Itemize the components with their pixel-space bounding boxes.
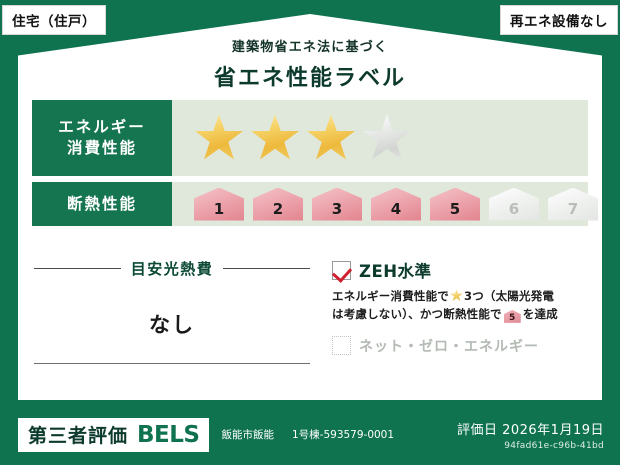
- insulation-grade-badge-1: 1: [194, 188, 244, 221]
- star-filled-icon: [306, 113, 356, 163]
- title-subtitle: 建築物省エネ法に基づく: [0, 36, 620, 55]
- energy-label-root: 住宅（住戸） 再エネ設備なし 建築物省エネ法に基づく 省エネ性能ラベル エネルギ…: [0, 0, 620, 465]
- evaluation-date: 評価日 2026年1月19日: [457, 419, 604, 438]
- zeh-desc-star-count: 3つ（太陽光発電: [464, 289, 554, 303]
- zeh-description: エネルギー消費性能で3つ（太陽光発電は考慮しない）、かつ断熱性能で5を達成: [332, 288, 588, 324]
- building-type-tag: 住宅（住戸）: [2, 5, 106, 35]
- utility-cost-heading: 目安光熱費: [34, 258, 310, 279]
- label-title-block: 建築物省エネ法に基づく 省エネ性能ラベル: [0, 36, 620, 92]
- third-party-eval-label: 第三者評価: [28, 421, 128, 448]
- net-zero-energy-checkbox[interactable]: [332, 336, 351, 355]
- zeh-desc-part1: エネルギー消費性能で: [332, 289, 449, 303]
- energy-label-line1: エネルギー: [58, 117, 146, 138]
- utility-cost-section: 目安光熱費 なし: [18, 248, 326, 400]
- inline-grade-badge-icon: 5: [504, 310, 521, 323]
- insulation-performance-row: 断熱性能 1234567: [32, 182, 588, 226]
- star-empty-icon: [362, 113, 412, 163]
- insulation-grade-scale: 1234567: [172, 182, 601, 226]
- evaluation-date-label: 評価日: [457, 423, 498, 438]
- utility-cost-title: 目安光熱費: [131, 258, 214, 279]
- insulation-performance-label: 断熱性能: [32, 182, 172, 226]
- document-hash: 94fad61e-c96b-41bd: [457, 441, 604, 451]
- bels-badge: 第三者評価 BELS: [18, 418, 209, 452]
- insulation-grade-badge-3: 3: [312, 188, 362, 221]
- energy-performance-label: エネルギー 消費性能: [32, 100, 172, 176]
- footer-building-meta: 飯能市飯能 1号棟-593579-0001: [221, 427, 394, 442]
- bels-logo: BELS: [137, 422, 199, 448]
- renewable-equipment-tag: 再エネ設備なし: [500, 5, 618, 35]
- page-title: 省エネ性能ラベル: [0, 60, 620, 92]
- zeh-desc-part3: を達成: [523, 307, 558, 321]
- energy-performance-row: エネルギー 消費性能: [32, 100, 588, 176]
- rating-rows: エネルギー 消費性能 断熱性能 1234567: [32, 100, 588, 232]
- insulation-label-line1: 断熱性能: [67, 194, 137, 215]
- star-filled-icon: [250, 113, 300, 163]
- building-id: 1号棟-593579-0001: [292, 427, 394, 442]
- building-location: 飯能市飯能: [221, 427, 274, 442]
- lower-sections: 目安光熱費 なし ZEH水準 エネルギー消費性能で3つ（太陽光発電は考慮しない）…: [18, 248, 602, 400]
- zeh-section: ZEH水準 エネルギー消費性能で3つ（太陽光発電は考慮しない）、かつ断熱性能で5…: [326, 248, 602, 400]
- star-filled-icon: [194, 113, 244, 163]
- rule-left: [34, 268, 121, 269]
- net-zero-energy-label: ネット・ゼロ・エネルギー: [359, 336, 539, 356]
- insulation-grade-badge-5: 5: [430, 188, 480, 221]
- inline-star-icon: [450, 289, 463, 302]
- utility-cost-bottom-rule: [34, 363, 310, 364]
- insulation-grade-badge-6: 6: [489, 188, 539, 221]
- evaluation-date-value: 2026年1月19日: [502, 423, 604, 438]
- energy-label-line2: 消費性能: [67, 138, 137, 159]
- zeh-check-line[interactable]: ZEH水準: [332, 258, 588, 282]
- utility-cost-value: なし: [34, 309, 310, 339]
- rule-right: [223, 268, 310, 269]
- insulation-grade-badge-2: 2: [253, 188, 303, 221]
- net-zero-energy-line[interactable]: ネット・ゼロ・エネルギー: [332, 336, 588, 356]
- insulation-grade-badge-7: 7: [548, 188, 598, 221]
- zeh-desc-part2: は考慮しない）、かつ断熱性能で: [332, 307, 502, 321]
- insulation-grade-badge-4: 4: [371, 188, 421, 221]
- footer-bar: 第三者評価 BELS 飯能市飯能 1号棟-593579-0001 評価日 202…: [0, 404, 620, 465]
- footer-evaluation-meta: 評価日 2026年1月19日 94fad61e-c96b-41bd: [457, 419, 604, 451]
- zeh-checkbox[interactable]: [332, 261, 351, 280]
- zeh-title: ZEH水準: [359, 258, 432, 282]
- star-rating: [172, 100, 588, 176]
